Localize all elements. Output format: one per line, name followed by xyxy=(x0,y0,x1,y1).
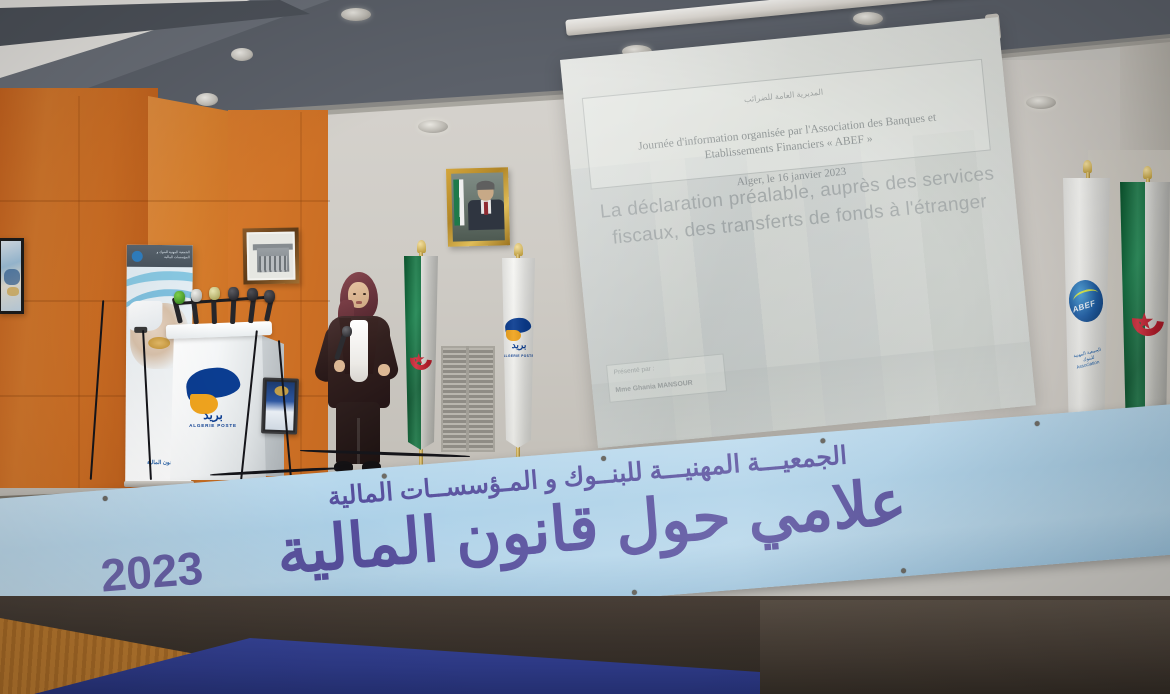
wood-seam xyxy=(300,112,302,486)
podium-monitor xyxy=(261,377,299,434)
microphone-cluster xyxy=(168,287,280,333)
downlight-icon xyxy=(418,120,448,133)
smoke-detector-icon xyxy=(196,93,218,106)
algeria-flag-center: ★ xyxy=(404,256,438,450)
smoke-detector-icon xyxy=(231,48,253,61)
microphone-icon xyxy=(264,290,275,303)
president-portrait xyxy=(446,167,510,247)
algerie-poste-logo-icon: بريد ALGERIE POSTE xyxy=(186,368,240,426)
rollup-top-text: الجمعية المهنية للبنوك و المؤسسات المالي… xyxy=(146,250,190,259)
conference-hall-photo: المديرية العامة للضرائب Journée d'inform… xyxy=(0,0,1170,694)
microphone-icon xyxy=(247,288,258,301)
algerie-poste-logo-latin: ALGERIE POSTE xyxy=(186,423,240,428)
microphone-icon xyxy=(209,287,220,300)
handheld-microphone-icon xyxy=(342,326,352,337)
floor-polished xyxy=(760,600,1170,694)
downlight-icon xyxy=(341,8,371,21)
microphone-icon xyxy=(174,291,185,304)
slide-presenter-label: Présenté par : xyxy=(613,365,654,376)
microphone-icon xyxy=(191,289,202,302)
left-painting xyxy=(0,238,24,314)
wood-seam xyxy=(78,96,80,488)
flag-finial xyxy=(417,240,426,253)
downlight-icon xyxy=(853,12,883,25)
microphone-icon xyxy=(228,287,239,300)
slide-presenter-name: Mme Ghania MANSOUR xyxy=(615,380,693,395)
stamp-picture xyxy=(243,228,300,285)
projection-screen: المديرية العامة للضرائب Journée d'inform… xyxy=(560,17,1036,448)
algerie-poste-flag: بريد ALGERIE POSTE xyxy=(502,258,535,448)
rollup-logo-icon xyxy=(132,251,143,262)
algerie-poste-logo-arabic: بريد xyxy=(190,408,236,422)
wood-seam xyxy=(0,200,330,202)
downlight-icon xyxy=(1026,96,1056,109)
